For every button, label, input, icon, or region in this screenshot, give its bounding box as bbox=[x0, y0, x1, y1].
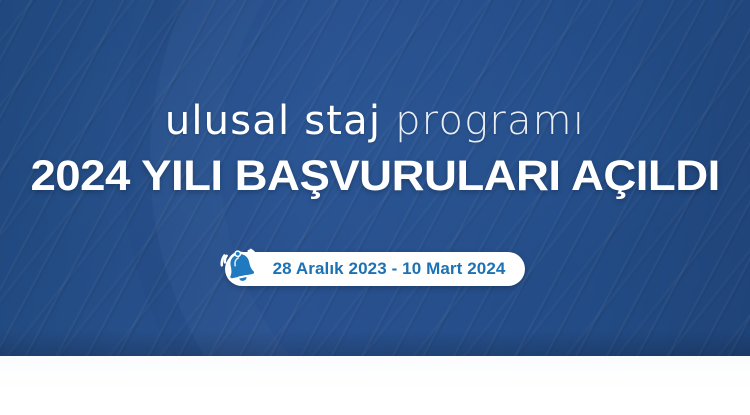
promo-banner: ulusal staj programı 2024 YILI BAŞVURULA… bbox=[0, 0, 750, 415]
date-range-text: 28 Aralık 2023 - 10 Mart 2024 bbox=[273, 259, 506, 279]
banner-content: ulusal staj programı 2024 YILI BAŞVURULA… bbox=[0, 0, 750, 415]
bell-icon bbox=[219, 247, 263, 291]
date-pill: 28 Aralık 2023 - 10 Mart 2024 bbox=[225, 252, 526, 286]
headline-light: ulusal staj programı bbox=[165, 96, 585, 146]
date-badge: 28 Aralık 2023 - 10 Mart 2024 bbox=[225, 252, 526, 286]
headline-word-ulusal: ulusal bbox=[165, 98, 290, 144]
headline-word-programi: programı bbox=[395, 98, 585, 144]
headline-heavy: 2024 YILI BAŞVURULARI AÇILDI bbox=[30, 152, 719, 200]
bottom-white-strip bbox=[0, 356, 750, 415]
headline-word-staj: staj bbox=[304, 98, 381, 144]
bottom-white-strip-tint bbox=[0, 356, 750, 415]
